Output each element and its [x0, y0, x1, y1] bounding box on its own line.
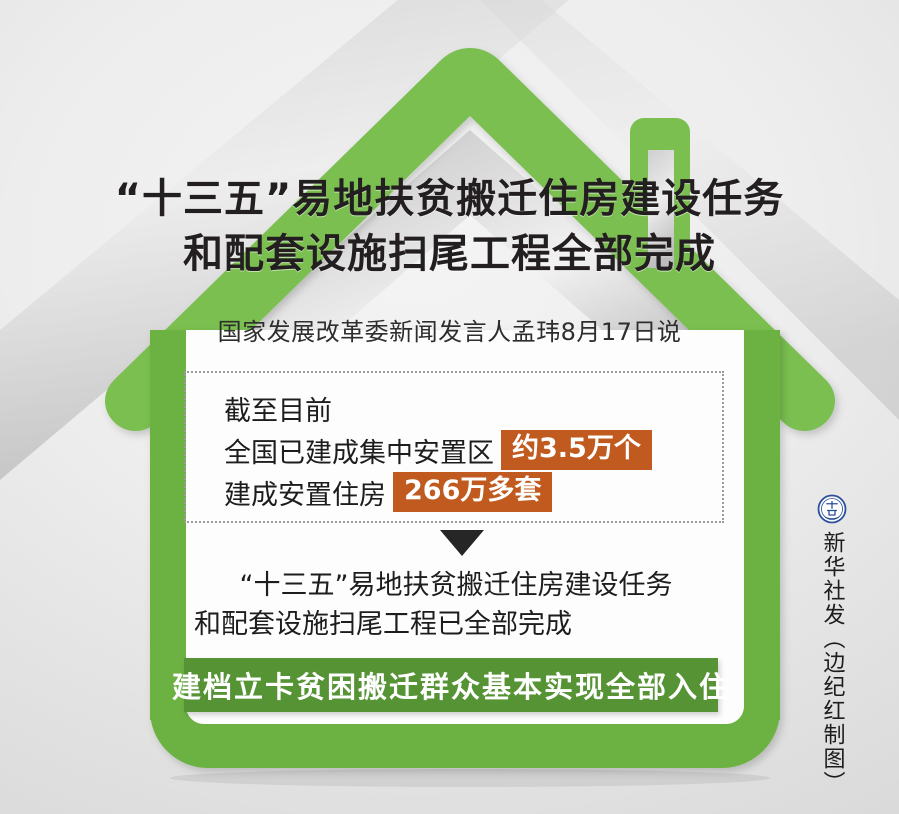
stat-row: 全国已建成集中安置区 约3.5万个: [224, 429, 722, 471]
stat-label: 建成安置住房: [224, 473, 386, 512]
statistics-box: 截至目前 全国已建成集中安置区 约3.5万个 建成安置住房 266万多套: [184, 371, 724, 523]
stat-label: 全国已建成集中安置区: [224, 431, 494, 470]
infographic-poster: “十三五”易地扶贫搬迁住房建设任务 和配套设施扫尾工程全部完成 国家发展改革委新…: [0, 0, 899, 814]
ground-shadow: [170, 769, 770, 787]
stat-row: 截至目前: [224, 387, 722, 429]
page-title: “十三五”易地扶贫搬迁住房建设任务 和配套设施扫尾工程全部完成: [0, 172, 899, 282]
wall-accent-right: [744, 380, 780, 720]
conclusion-text: “十三五”易地扶贫搬迁住房建设任务 和配套设施扫尾工程已全部完成: [186, 566, 726, 644]
headline-line-1: “十三五”易地扶贫搬迁住房建设任务: [0, 172, 899, 227]
stat-highlight-value: 约3.5万个: [501, 430, 652, 470]
credit-text: 新华社发（边纪红制图）: [820, 531, 843, 795]
xinhua-seal-logo-icon: [817, 494, 847, 524]
source-attribution: 国家发展改革委新闻发言人孟玮8月17日说: [0, 312, 899, 347]
credit-block: 新华社发（边纪红制图）: [809, 494, 855, 795]
key-message-banner: 建档立卡贫困搬迁群众基本实现全部入住: [184, 658, 718, 712]
stat-highlight-value: 266万多套: [393, 472, 552, 512]
stat-label: 截至目前: [224, 389, 332, 428]
stat-row: 建成安置住房 266万多套: [224, 471, 722, 513]
conclusion-line-1: “十三五”易地扶贫搬迁住房建设任务: [186, 566, 726, 605]
conclusion-line-2: 和配套设施扫尾工程已全部完成: [186, 605, 726, 644]
down-triangle-icon: [440, 530, 484, 556]
key-message-text: 建档立卡贫困搬迁群众基本实现全部入住: [172, 664, 730, 706]
headline-line-2: 和配套设施扫尾工程全部完成: [0, 227, 899, 282]
